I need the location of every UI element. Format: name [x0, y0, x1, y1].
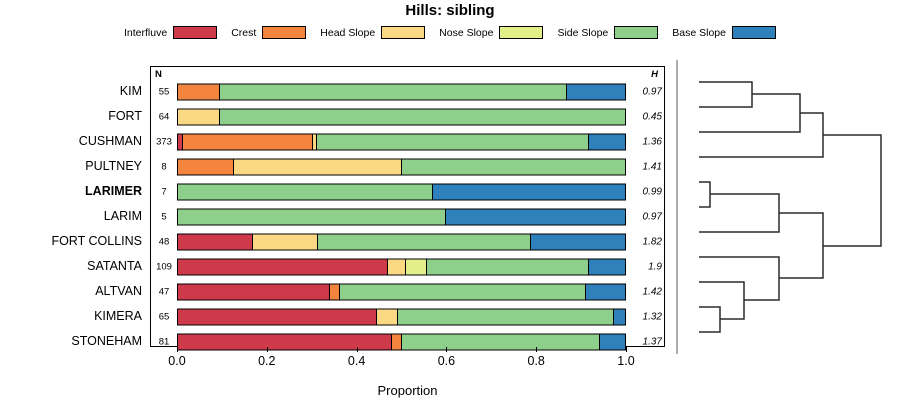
- x-tick-label: 0.4: [348, 354, 365, 368]
- legend-swatch: [173, 26, 217, 39]
- x-axis-title: Proportion: [150, 383, 665, 398]
- legend-label: Interfluve: [124, 27, 167, 39]
- bar-segment-base-slope[interactable]: [446, 209, 625, 224]
- legend-label: Side Slope: [557, 27, 608, 39]
- bar-segment-side-slope[interactable]: [402, 159, 626, 174]
- legend-swatch: [732, 26, 776, 39]
- stacked-bar[interactable]: [177, 283, 626, 300]
- bar-segment-crest[interactable]: [330, 284, 340, 299]
- row-n-value: 109: [151, 261, 177, 272]
- dendro-link-d-fortcollins: [699, 194, 779, 232]
- bar-segment-interfluve[interactable]: [178, 234, 253, 249]
- row-h-value: 0.45: [632, 111, 662, 122]
- row-n-value: 55: [151, 86, 177, 97]
- stacked-bar[interactable]: [177, 158, 626, 175]
- bar-segment-nose-slope[interactable]: [406, 259, 427, 274]
- bar-segment-base-slope[interactable]: [567, 84, 625, 99]
- bar-row: 70.99: [151, 179, 664, 204]
- bar-segment-side-slope[interactable]: [340, 284, 586, 299]
- stacked-bar[interactable]: [177, 183, 626, 200]
- bar-segment-side-slope[interactable]: [427, 259, 590, 274]
- bar-row: 651.32: [151, 304, 664, 329]
- bar-segment-side-slope[interactable]: [220, 109, 625, 124]
- legend: InterfluveCrestHead SlopeNose SlopeSide …: [0, 26, 900, 39]
- bar-segment-base-slope[interactable]: [614, 309, 625, 324]
- x-tick-mark: [536, 347, 537, 352]
- dendrogram: [676, 60, 900, 360]
- dendro-link-root: [823, 135, 881, 246]
- row-n-value: 81: [151, 336, 177, 347]
- legend-entry-interfluve: Interfluve: [124, 26, 217, 39]
- legend-label: Base Slope: [672, 27, 726, 39]
- x-tick-label: 0.8: [527, 354, 544, 368]
- bar-segment-side-slope[interactable]: [317, 134, 589, 149]
- x-tick-label: 0.6: [438, 354, 455, 368]
- bar-segment-side-slope[interactable]: [178, 209, 446, 224]
- row-h-value: 1.42: [632, 286, 662, 297]
- dendro-link-e-h: [779, 213, 823, 278]
- row-h-value: 1.41: [632, 161, 662, 172]
- bar-segment-side-slope[interactable]: [178, 184, 433, 199]
- bar-row: 640.45: [151, 104, 664, 129]
- bar-segment-base-slope[interactable]: [531, 234, 625, 249]
- bar-segment-interfluve[interactable]: [178, 284, 330, 299]
- y-axis-label-pultney: PULTNEY: [0, 159, 142, 173]
- row-n-value: 7: [151, 186, 177, 197]
- dendro-link-satanta-g: [699, 257, 779, 300]
- y-axis-label-satanta: SATANTA: [0, 259, 142, 273]
- legend-label: Crest: [231, 27, 256, 39]
- x-tick-label: 0.0: [168, 354, 185, 368]
- page-title: Hills: sibling: [0, 2, 900, 19]
- row-n-value: 48: [151, 236, 177, 247]
- bar-row: 1091.9: [151, 254, 664, 279]
- dendro-link-kimera-stoneham: [699, 307, 720, 332]
- bar-row: 550.97: [151, 79, 664, 104]
- stacked-bar[interactable]: [177, 258, 626, 275]
- bar-segment-base-slope[interactable]: [586, 284, 625, 299]
- stacked-bar[interactable]: [177, 83, 626, 100]
- row-n-value: 47: [151, 286, 177, 297]
- dendro-link-kim-fort: [699, 82, 752, 107]
- row-n-value: 373: [151, 136, 177, 147]
- row-h-value: 0.97: [632, 211, 662, 222]
- stacked-bar[interactable]: [177, 133, 626, 150]
- x-axis: 0.00.20.40.60.81.0: [150, 347, 665, 387]
- x-tick-label: 1.0: [617, 354, 634, 368]
- bar-segment-crest[interactable]: [183, 134, 314, 149]
- dendro-link-larimer-larim: [699, 182, 710, 207]
- legend-swatch: [262, 26, 306, 39]
- bar-row: 481.82: [151, 229, 664, 254]
- row-h-value: 1.82: [632, 236, 662, 247]
- stacked-bar-plot-panel: N H 550.97640.453731.3681.4170.9950.9748…: [150, 66, 665, 347]
- y-axis-label-kimera: KIMERA: [0, 309, 142, 323]
- bar-segment-base-slope[interactable]: [589, 259, 625, 274]
- x-tick-mark: [446, 347, 447, 352]
- x-tick-mark: [626, 347, 627, 352]
- row-h-value: 1.9: [632, 261, 662, 272]
- y-axis-label-larimer: LARIMER: [0, 184, 142, 198]
- y-axis-label-cushman: CUSHMAN: [0, 134, 142, 148]
- bar-segment-crest[interactable]: [178, 159, 234, 174]
- row-n-value: 64: [151, 111, 177, 122]
- bar-segment-head-slope[interactable]: [388, 259, 406, 274]
- bar-segment-head-slope[interactable]: [178, 109, 220, 124]
- dendro-link-b-pultney: [699, 113, 823, 157]
- bar-segment-base-slope[interactable]: [589, 134, 625, 149]
- bar-segment-interfluve[interactable]: [178, 259, 388, 274]
- row-n-value: 8: [151, 161, 177, 172]
- legend-swatch: [381, 26, 425, 39]
- row-h-value: 1.36: [632, 136, 662, 147]
- legend-entry-side-slope: Side Slope: [557, 26, 658, 39]
- legend-entry-crest: Crest: [231, 26, 306, 39]
- x-tick-mark: [177, 347, 178, 352]
- y-axis-label-stoneham: STONEHAM: [0, 334, 142, 348]
- bar-segment-side-slope[interactable]: [220, 84, 567, 99]
- bar-segment-interfluve[interactable]: [178, 309, 377, 324]
- bar-row: 471.42: [151, 279, 664, 304]
- dendro-link-a-cushman: [699, 94, 800, 132]
- stacked-bar[interactable]: [177, 308, 626, 325]
- stacked-bar[interactable]: [177, 208, 626, 225]
- y-axis-label-altvan: ALTVAN: [0, 284, 142, 298]
- bar-row: 3731.36: [151, 129, 664, 154]
- y-axis-labels: KIMFORTCUSHMANPULTNEYLARIMERLARIMFORT CO…: [0, 66, 146, 347]
- dendrogram-svg: [676, 60, 900, 360]
- legend-entry-nose-slope: Nose Slope: [439, 26, 543, 39]
- row-h-value: 0.99: [632, 186, 662, 197]
- bar-segment-side-slope[interactable]: [318, 234, 531, 249]
- row-n-value: 5: [151, 211, 177, 222]
- row-n-value: 65: [151, 311, 177, 322]
- y-axis-label-larim: LARIM: [0, 209, 142, 223]
- bar-segment-crest[interactable]: [178, 84, 220, 99]
- bar-segment-base-slope[interactable]: [433, 184, 625, 199]
- legend-entry-base-slope: Base Slope: [672, 26, 776, 39]
- bar-row: 81.41: [151, 154, 664, 179]
- y-axis-label-kim: KIM: [0, 84, 142, 98]
- x-tick-mark: [357, 347, 358, 352]
- y-axis-label-fort: FORT: [0, 109, 142, 123]
- x-tick-label: 0.2: [258, 354, 275, 368]
- stacked-bar[interactable]: [177, 233, 626, 250]
- x-tick-mark: [267, 347, 268, 352]
- legend-label: Nose Slope: [439, 27, 493, 39]
- bar-segment-head-slope[interactable]: [253, 234, 318, 249]
- row-h-value: 0.97: [632, 86, 662, 97]
- bar-row: 50.97: [151, 204, 664, 229]
- bar-segment-head-slope[interactable]: [234, 159, 402, 174]
- row-h-value: 1.32: [632, 311, 662, 322]
- bar-segment-head-slope[interactable]: [377, 309, 398, 324]
- legend-label: Head Slope: [320, 27, 375, 39]
- legend-swatch: [614, 26, 658, 39]
- row-h-value: 1.37: [632, 336, 662, 347]
- bar-segment-side-slope[interactable]: [398, 309, 614, 324]
- legend-entry-head-slope: Head Slope: [320, 26, 425, 39]
- y-axis-label-fort-collins: FORT COLLINS: [0, 234, 142, 248]
- legend-swatch: [499, 26, 543, 39]
- dendro-link-altvan-f: [699, 282, 744, 319]
- stacked-bar[interactable]: [177, 108, 626, 125]
